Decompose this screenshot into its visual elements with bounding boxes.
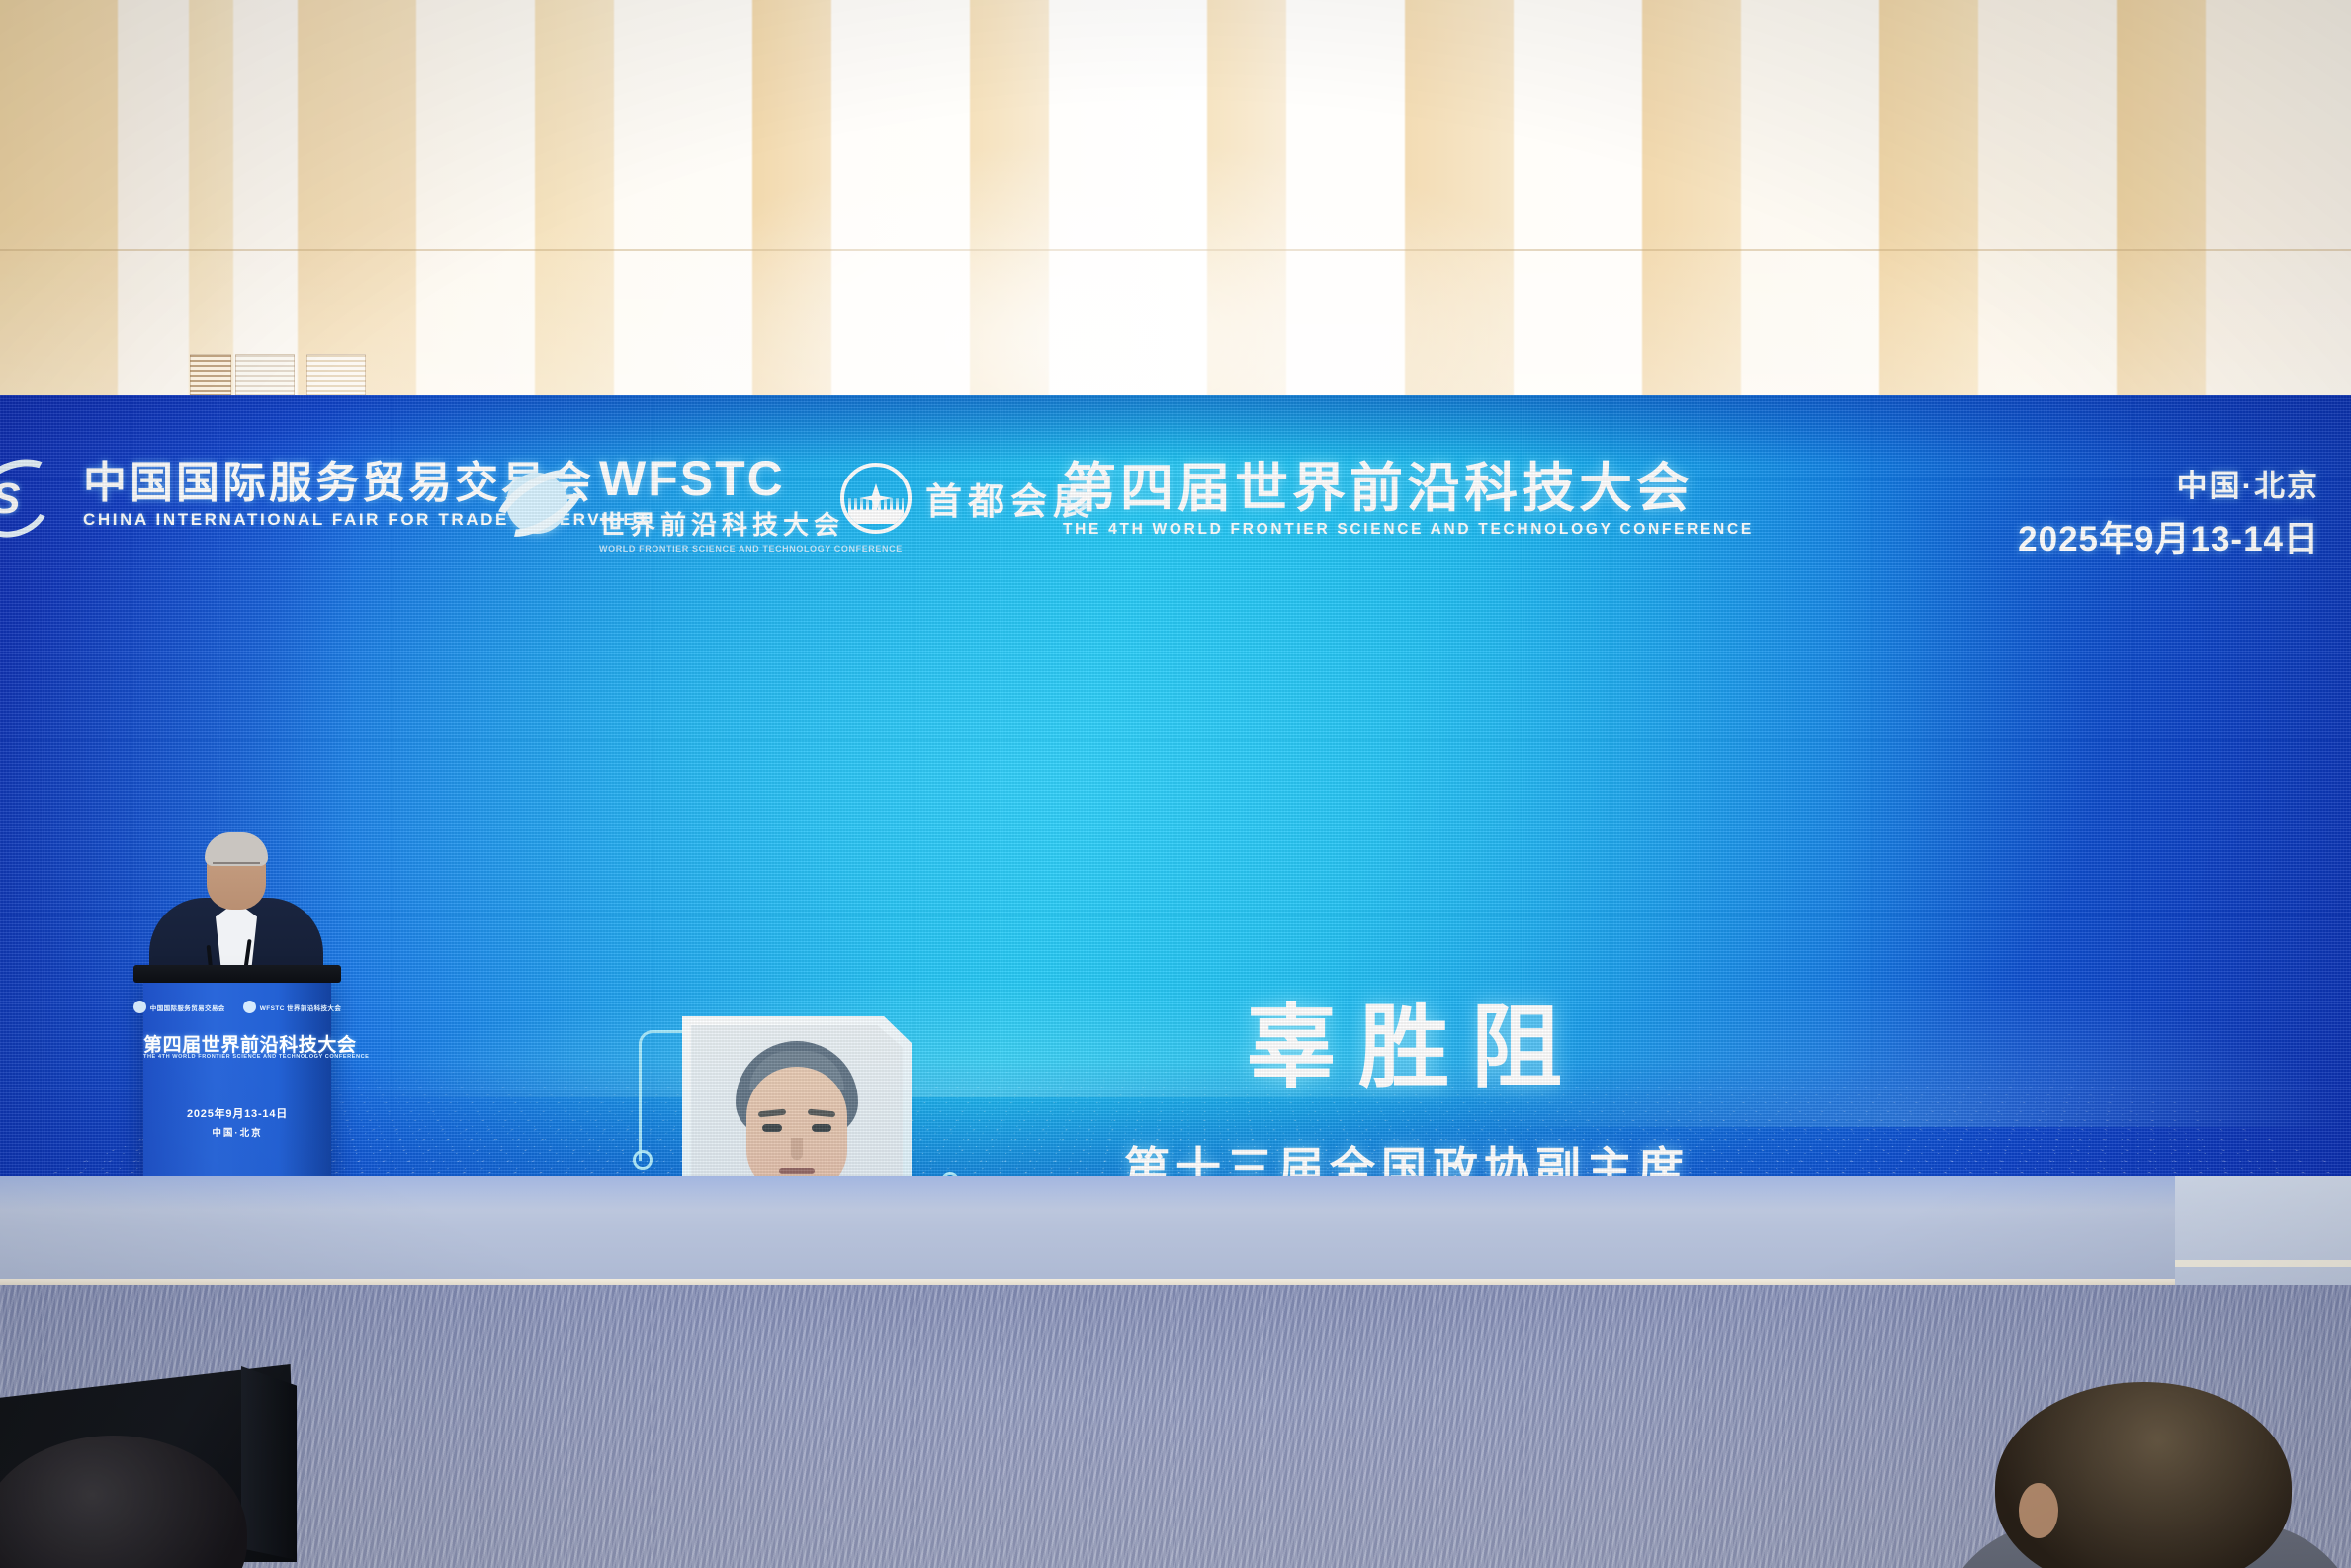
audience-ear-right — [2019, 1483, 2058, 1538]
conference-date: 2025年9月13-14日 — [2018, 511, 2319, 562]
podium-date: 2025年9月13-14日 — [143, 1105, 331, 1121]
podium-logo-row: 中国国际服务贸易交易会 WFSTC 世界前沿科技大会 — [143, 1001, 331, 1013]
portrait-image — [691, 1025, 903, 1186]
floor-carpet — [0, 1285, 2351, 1568]
podium-wfstc-logo: WFSTC 世界前沿科技大会 — [243, 1001, 342, 1013]
stage-monitor-side — [241, 1366, 297, 1560]
conference-city: 中国·北京 — [2018, 461, 2319, 505]
conference-title-english: THE 4TH WORLD FRONTIER SCIENCE AND TECHN… — [1063, 521, 1754, 539]
podium-ciftis-label: 中国国际服务贸易交易会 — [150, 1002, 225, 1012]
conference-stage-photo: TIS 中国国际服务贸易交易会 CHINA INTERNATIONAL FAIR… — [0, 0, 2351, 1568]
podium-wfstc-label: WFSTC 世界前沿科技大会 — [260, 1002, 342, 1012]
wfstc-mini-icon — [243, 1001, 256, 1013]
conference-title-block: 第四届世界前沿科技大会 THE 4TH WORLD FRONTIER SCIEN… — [1063, 461, 1754, 539]
planet-orbit-icon — [494, 459, 585, 550]
stage-platform — [0, 1176, 2351, 1301]
conference-meta-block: 中国·北京 2025年9月13-14日 — [2018, 461, 2319, 562]
speaker-name: 辜胜阻 — [999, 999, 1809, 1098]
presenter-figure — [148, 836, 324, 985]
ciftis-mini-icon — [133, 1001, 146, 1013]
venue-back-wall — [0, 0, 2351, 405]
wall-light-glow — [613, 138, 1602, 425]
led-header-row: TIS 中国国际服务贸易交易会 CHINA INTERNATIONAL FAIR… — [0, 453, 2351, 562]
ciftis-mark-label: TIS — [0, 475, 18, 524]
podium-ciftis-logo: 中国国际服务贸易交易会 — [133, 1001, 225, 1013]
speaker-info-block: 辜胜阻 第十三届全国政协副主席 著名经济学家 全球发展智库首席专家 — [999, 999, 1809, 1186]
podium-desktop — [133, 965, 341, 983]
capital-expo-skyline-icon — [840, 463, 912, 534]
podium-city: 中国·北京 — [143, 1125, 331, 1139]
wfstc-english-name: WORLD FRONTIER SCIENCE AND TECHNOLOGY CO… — [599, 544, 903, 554]
podium-lectern: 中国国际服务贸易交易会 WFSTC 世界前沿科技大会 第四届世界前沿科技大会 T… — [143, 979, 331, 1186]
podium-title: 第四届世界前沿科技大会 — [143, 1030, 331, 1057]
podium-subtitle: THE 4TH WORLD FRONTIER SCIENCE AND TECHN… — [143, 1054, 331, 1060]
led-backdrop-screen: TIS 中国国际服务贸易交易会 CHINA INTERNATIONAL FAIR… — [0, 395, 2351, 1186]
capital-expo-logo-block: 首都会展 — [840, 463, 1095, 534]
speaker-portrait — [682, 1016, 912, 1186]
conference-title-chinese: 第四届世界前沿科技大会 — [1063, 461, 1754, 516]
ciftis-swoosh-icon: TIS — [0, 453, 67, 538]
